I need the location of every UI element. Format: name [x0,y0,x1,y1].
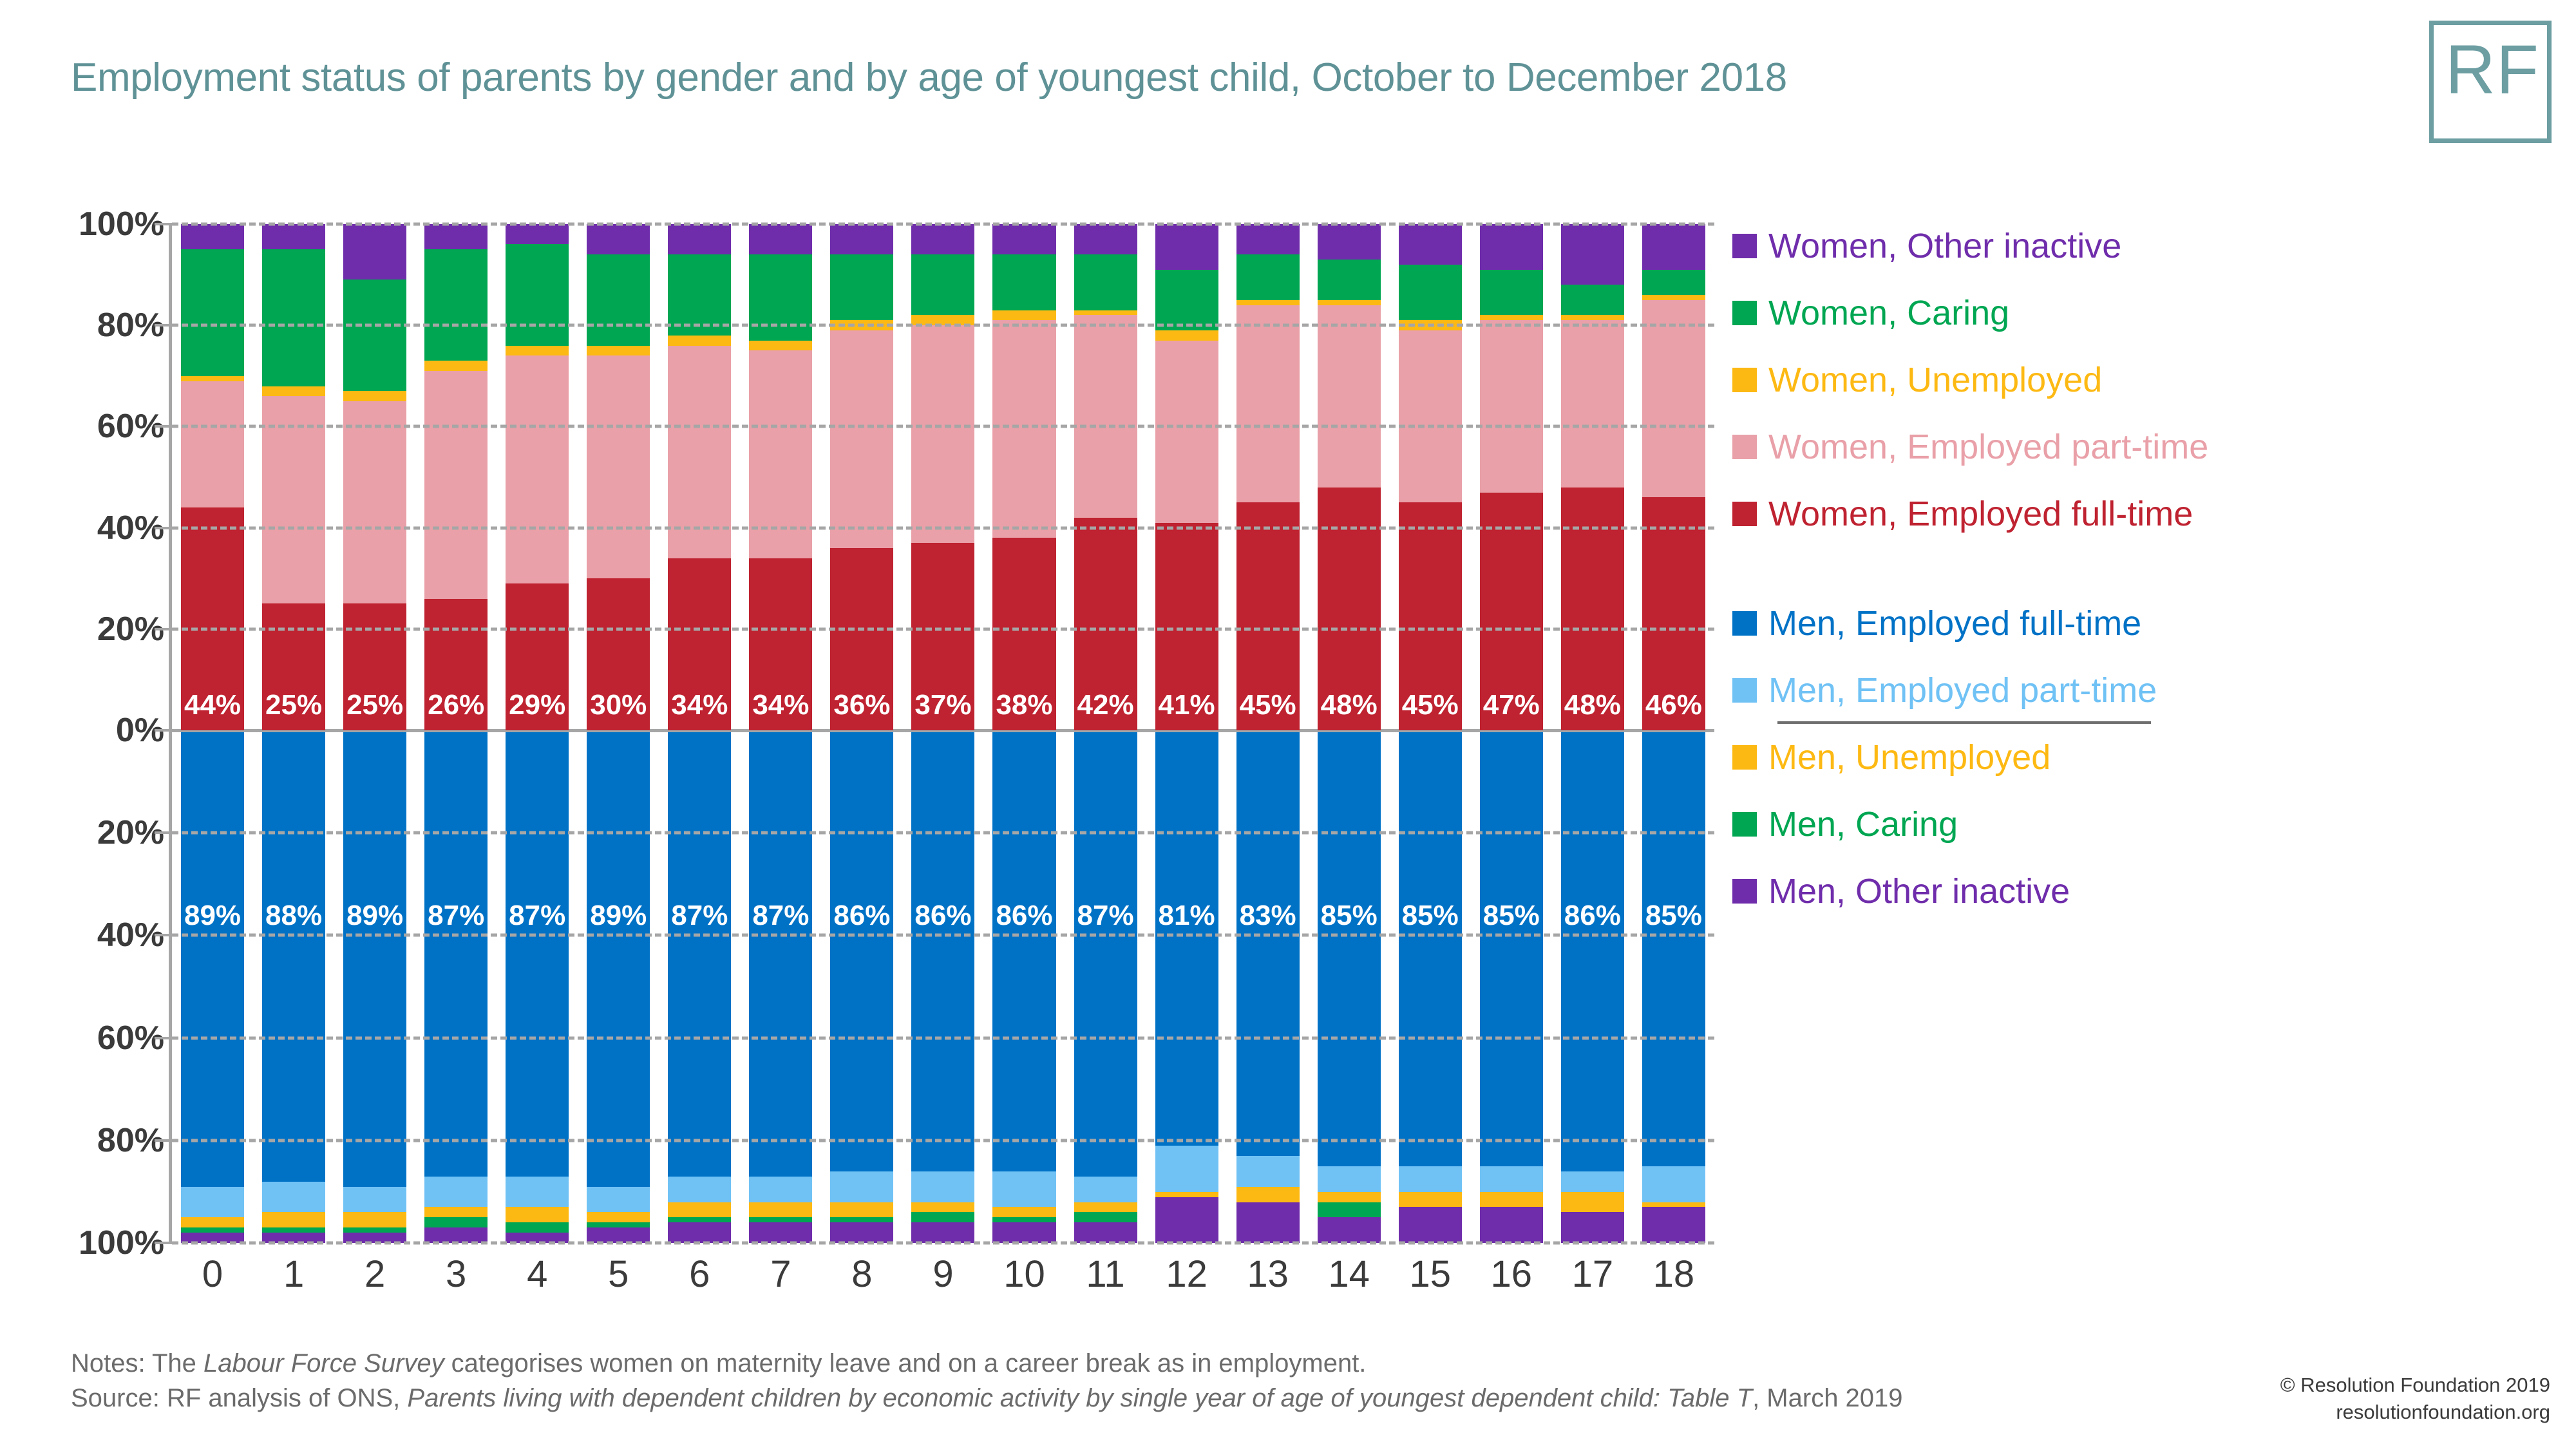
bar-segment[interactable] [992,1222,1056,1243]
bar-segment[interactable] [1155,330,1218,341]
bar-segment[interactable] [1236,300,1300,305]
y-axis-labels: 100%80%60%40%20%0%20%40%60%80%100% [0,0,164,1449]
bar-segment[interactable] [262,224,325,249]
bar-segment[interactable] [1074,1202,1137,1213]
bar-segment[interactable]: 87% [749,732,812,1177]
bar-column[interactable]: 41% [1146,224,1227,730]
bar-segment[interactable]: 85% [1642,732,1705,1166]
bar-column[interactable]: 87% [659,732,740,1243]
x-axis-tick-label: 15 [1390,1253,1471,1304]
bar-segment[interactable] [830,1217,893,1222]
bar-segment[interactable] [424,224,488,249]
y-axis-tick-mark [155,1139,173,1142]
bar-segment[interactable] [1480,224,1543,270]
bar-segment[interactable] [749,1202,812,1218]
y-axis-tick-mark [155,934,173,936]
bar-segment[interactable] [1236,305,1300,503]
bar-column[interactable]: 34% [740,224,821,730]
bar-segment[interactable] [1318,1217,1381,1243]
bar-stack: 87% [1074,732,1137,1243]
legend-swatch-icon [1732,502,1757,526]
bar-segment[interactable]: 81% [1155,732,1218,1146]
bar-segment[interactable] [992,254,1056,310]
bar-segment[interactable] [1318,1166,1381,1192]
bar-stack: 38% [992,224,1056,730]
bar-segment[interactable] [1642,1166,1705,1202]
bar-stack: 46% [1642,224,1705,730]
bar-segment[interactable]: 89% [587,732,650,1187]
bar-column[interactable]: 48% [1309,224,1390,730]
bar-segment[interactable] [1399,224,1462,265]
bar-segment[interactable] [668,1222,731,1243]
bar-value-label: 37% [911,689,974,721]
bar-column[interactable]: 45% [1390,224,1471,730]
bar-column[interactable]: 29% [497,224,578,730]
bar-segment[interactable] [1561,224,1624,285]
bar-segment[interactable] [343,1187,406,1213]
bar-column[interactable]: 25% [334,224,415,730]
bar-segment[interactable] [1318,1202,1381,1218]
bar-segment[interactable] [343,279,406,391]
bar-stack: 25% [262,224,325,730]
bar-segment[interactable] [1642,270,1705,295]
legend-item-women-3[interactable]: Women, Employed part-time [1732,413,2537,480]
bar-segment[interactable] [343,1227,406,1233]
bar-column[interactable]: 38% [983,224,1065,730]
bar-stack: 25% [343,224,406,730]
bar-segment[interactable] [587,254,650,345]
bar-column[interactable]: 85% [1633,732,1714,1243]
bar-segment[interactable] [1318,305,1381,488]
bar-segment[interactable] [1074,254,1137,310]
bar-segment[interactable]: 85% [1318,732,1381,1166]
legend-item-men-0[interactable]: Men, Employed full-time [1732,590,2537,657]
bar-segment[interactable] [1642,1207,1705,1243]
bar-segment[interactable] [262,1227,325,1233]
x-axis-tick-label: 17 [1552,1253,1633,1304]
bar-segment[interactable] [506,1222,569,1233]
bar-segment[interactable]: 87% [424,732,488,1177]
bar-segment[interactable] [911,254,974,315]
bar-segment[interactable] [181,1187,244,1218]
bar-column[interactable]: 34% [659,224,740,730]
bar-stack: 26% [424,224,488,730]
bar-column[interactable]: 87% [415,732,497,1243]
legend-label: Women, Other inactive [1768,226,2121,266]
bar-segment[interactable] [830,224,893,254]
y-axis-tick-mark [155,425,173,428]
legend-swatch-icon [1732,678,1757,703]
bar-segment[interactable] [1318,224,1381,260]
y-axis-tick-mark [155,223,173,225]
bar-segment[interactable] [343,391,406,401]
bar-segment[interactable] [911,325,974,543]
bar-segment[interactable] [1236,254,1300,300]
bar-segment[interactable]: 34% [668,558,731,730]
bar-segment[interactable]: 87% [1074,732,1137,1177]
bar-segment[interactable]: 38% [992,538,1056,730]
bar-column[interactable]: 85% [1471,732,1552,1243]
bar-segment[interactable] [424,361,488,371]
bar-segment[interactable] [992,320,1056,538]
bar-segment[interactable] [668,1202,731,1218]
bar-segment[interactable] [1318,260,1381,300]
y-axis-tick-label: 40% [3,916,164,954]
bar-column[interactable]: 89% [578,732,659,1243]
bar-stack: 42% [1074,224,1137,730]
bar-segment[interactable] [1155,1192,1218,1197]
bar-segment[interactable] [749,254,812,341]
bar-segment[interactable]: 48% [1318,488,1381,730]
bar-segment[interactable] [1318,300,1381,305]
legend-swatch-icon [1732,879,1757,904]
notes-italic: Labour Force Survey [204,1349,444,1378]
bar-segment[interactable] [1642,1202,1705,1207]
bar-column[interactable]: 89% [172,732,253,1243]
y-axis-tick-label: 20% [3,610,164,649]
bar-segment[interactable]: 83% [1236,732,1300,1156]
legend-item-women-1[interactable]: Women, Caring [1732,279,2537,346]
legend-swatch-icon [1732,368,1757,392]
bar-segment[interactable] [587,1187,650,1213]
bar-segment[interactable] [992,224,1056,254]
bar-column[interactable]: 37% [902,224,983,730]
bar-column[interactable]: 87% [740,732,821,1243]
bar-stack: 89% [181,732,244,1243]
bar-value-label: 42% [1074,689,1137,721]
bar-segment[interactable] [1399,330,1462,502]
bar-segment[interactable] [911,224,974,254]
bar-segment[interactable] [1561,315,1624,320]
legend-item-women-2[interactable]: Women, Unemployed [1732,346,2537,413]
bar-segment[interactable] [992,1207,1056,1217]
bar-segment[interactable]: 85% [1399,732,1462,1166]
bar-segment[interactable] [181,376,244,381]
bar-column[interactable]: 46% [1633,224,1714,730]
bar-segment[interactable] [1074,1177,1137,1202]
bar-segment[interactable] [911,1171,974,1202]
x-axis-tick-label: 13 [1227,1253,1309,1304]
x-axis-tick-label: 3 [415,1253,497,1304]
bar-segment[interactable] [992,1217,1056,1222]
y-axis-tick-mark [155,628,173,630]
bar-segment[interactable] [1074,310,1137,316]
x-axis-tick-label: 5 [578,1253,659,1304]
bar-column[interactable]: 89% [334,732,415,1243]
bar-segment[interactable] [1642,224,1705,270]
legend-item-men-1[interactable]: Men, Employed part-time [1732,657,2537,724]
legend-item-women-0[interactable]: Women, Other inactive [1732,213,2537,279]
bar-segment[interactable] [749,1222,812,1243]
y-axis-tick-label: 60% [3,1019,164,1057]
bar-segment[interactable]: 86% [911,732,974,1171]
bar-segment[interactable] [668,1177,731,1202]
bar-segment[interactable] [992,1171,1056,1207]
bar-column[interactable]: 86% [902,732,983,1243]
gridline [172,934,1714,937]
bar-segment[interactable] [424,371,488,599]
bar-segment[interactable] [262,1212,325,1227]
bar-stack: 34% [668,224,731,730]
bar-segment[interactable] [668,224,731,254]
bar-column[interactable]: 85% [1309,732,1390,1243]
x-axis-tick-label: 4 [497,1253,578,1304]
bar-segment[interactable] [587,1222,650,1227]
bar-segment[interactable] [1561,1192,1624,1213]
bar-column[interactable]: 48% [1552,224,1633,730]
bar-segment[interactable] [1074,315,1137,517]
bar-segment[interactable] [830,1222,893,1243]
bar-segment[interactable] [830,254,893,320]
bar-segment[interactable] [1399,1192,1462,1207]
bar-segment[interactable] [181,249,244,376]
bar-column[interactable]: 47% [1471,224,1552,730]
bar-segment[interactable] [506,1207,569,1222]
bar-segment[interactable]: 48% [1561,488,1624,730]
bar-segment[interactable] [668,1217,731,1222]
bar-segment[interactable]: 45% [1399,502,1462,730]
bar-segment[interactable] [1074,1222,1137,1243]
y-axis-tick-label: 40% [3,509,164,547]
legend-label: Men, Unemployed [1768,737,2050,777]
bar-segment[interactable] [1236,1187,1300,1202]
bar-value-label: 86% [830,900,893,932]
bar-segment[interactable] [181,224,244,249]
bar-value-label: 45% [1399,689,1462,721]
legend-label: Men, Caring [1768,804,1958,844]
bar-column[interactable]: 88% [253,732,334,1243]
bar-column[interactable]: 85% [1390,732,1471,1243]
bar-segment[interactable] [1236,224,1300,254]
bar-segment[interactable] [1399,1166,1462,1192]
bar-column[interactable]: 87% [1065,732,1146,1243]
bar-stack: 85% [1399,732,1462,1243]
y-axis-tick-label: 80% [3,1121,164,1160]
bar-segment[interactable] [587,1212,650,1222]
bar-segment[interactable] [1399,1207,1462,1243]
bar-segment[interactable] [1480,320,1543,492]
bar-stack: 45% [1236,224,1300,730]
bar-segment[interactable] [262,1182,325,1213]
bar-value-label: 83% [1236,900,1300,932]
bar-value-label: 46% [1642,689,1705,721]
bar-segment[interactable]: 37% [911,543,974,730]
bar-segment[interactable] [830,330,893,548]
bar-value-label: 85% [1480,900,1543,932]
bar-column[interactable]: 87% [497,732,578,1243]
bar-stack: 37% [911,224,974,730]
bar-segment[interactable]: 42% [1074,518,1137,730]
bar-value-label: 85% [1642,900,1705,932]
bar-value-label: 87% [1074,900,1137,932]
bar-segment[interactable] [1074,1212,1137,1222]
bar-segment[interactable] [506,1177,569,1207]
gridline [172,831,1714,835]
bar-stack: 88% [262,732,325,1243]
x-axis-tick-label: 7 [740,1253,821,1304]
bar-segment[interactable]: 36% [830,548,893,730]
bar-value-label: 88% [262,900,325,932]
bar-segment[interactable] [668,336,731,346]
bar-segment[interactable] [1155,1197,1218,1243]
bar-segment[interactable] [1318,1192,1381,1202]
copyright-line-2[interactable]: resolutionfoundation.org [2280,1399,2550,1426]
legend-swatch-icon [1732,435,1757,459]
legend-spacer [1732,547,2537,590]
bar-segment[interactable] [506,224,569,244]
bar-segment[interactable] [1480,1207,1543,1243]
legend-item-women-4[interactable]: Women, Employed full-time [1732,480,2537,547]
bar-segment[interactable] [424,1177,488,1207]
bar-segment[interactable] [1236,1202,1300,1243]
bar-segment[interactable] [424,249,488,361]
bar-segment[interactable] [911,1202,974,1213]
bar-stack: 83% [1236,732,1300,1243]
bar-segment[interactable] [749,1177,812,1202]
bar-segment[interactable] [181,1217,244,1227]
bar-column[interactable]: 81% [1146,732,1227,1243]
bar-segment[interactable] [1480,270,1543,316]
bar-column[interactable]: 30% [578,224,659,730]
bar-segment[interactable]: 30% [587,578,650,730]
bar-column[interactable]: 26% [415,224,497,730]
bar-segment[interactable]: 87% [506,732,569,1177]
bar-segment[interactable]: 25% [262,603,325,730]
bar-segment[interactable] [1155,224,1218,270]
bar-segment[interactable]: 29% [506,583,569,730]
bar-segment[interactable]: 86% [992,732,1056,1171]
bar-segment[interactable] [262,249,325,386]
legend-label: Women, Caring [1768,293,2009,333]
bar-segment[interactable] [1480,1166,1543,1192]
bar-segment[interactable] [911,1212,974,1222]
bar-stack: 87% [668,732,731,1243]
x-axis-tick-label: 6 [659,1253,740,1304]
bar-segment[interactable] [1155,270,1218,330]
bar-segment[interactable] [343,1212,406,1227]
bar-value-label: 34% [668,689,731,721]
bar-segment[interactable] [911,1222,974,1243]
bar-segment[interactable] [587,346,650,356]
gridline [172,1036,1714,1039]
bar-segment[interactable]: 86% [1561,732,1624,1171]
bar-value-label: 30% [587,689,650,721]
bar-segment[interactable]: 89% [181,732,244,1187]
bar-segment[interactable]: 41% [1155,523,1218,730]
legend-swatch-icon [1732,234,1757,258]
bar-segment[interactable] [1236,1156,1300,1187]
bar-value-label: 36% [830,689,893,721]
bar-column[interactable]: 86% [821,732,902,1243]
bar-segment[interactable] [830,1202,893,1218]
legend-item-men-4[interactable]: Men, Other inactive [1732,858,2537,925]
x-axis-labels: 0123456789101112131415161718 [172,1253,1714,1304]
bar-segment[interactable] [506,346,569,356]
bar-column[interactable]: 45% [1227,224,1309,730]
bar-segment[interactable] [587,355,650,578]
bar-segment[interactable] [1480,315,1543,320]
bar-column[interactable]: 83% [1227,732,1309,1243]
bar-column[interactable]: 86% [983,732,1065,1243]
bar-segment[interactable]: 46% [1642,497,1705,730]
bar-segment[interactable]: 85% [1480,732,1543,1166]
bar-segment[interactable] [506,244,569,345]
bar-segment[interactable] [587,224,650,254]
bar-segment[interactable]: 34% [749,558,812,730]
bar-segment[interactable] [587,1227,650,1243]
bar-segment[interactable]: 88% [262,732,325,1182]
bar-segment[interactable] [181,381,244,508]
y-axis-tick-label: 80% [3,306,164,345]
bar-segment[interactable] [1155,1146,1218,1191]
bar-column[interactable]: 25% [253,224,334,730]
bar-segment[interactable] [506,355,569,583]
bar-segment[interactable] [1480,1192,1543,1207]
y-axis-tick-label: 20% [3,813,164,852]
bar-column[interactable]: 36% [821,224,902,730]
bar-segment[interactable] [424,1227,488,1243]
bar-segment[interactable] [424,1217,488,1227]
chart-notes: Notes: The Labour Force Survey categoris… [71,1346,1903,1416]
bar-segment[interactable] [1642,300,1705,498]
bar-column[interactable]: 42% [1065,224,1146,730]
bar-segment[interactable] [181,1227,244,1233]
y-axis-tick-mark [155,527,173,529]
bar-stack: 41% [1155,224,1218,730]
bar-segment[interactable] [424,1207,488,1217]
bar-segment[interactable]: 89% [343,732,406,1187]
bar-segment[interactable] [343,401,406,603]
bar-segment[interactable] [749,1217,812,1222]
y-axis-tick-mark [155,831,173,834]
bar-segment[interactable]: 25% [343,603,406,730]
bar-segment[interactable] [1074,224,1137,254]
bar-segment[interactable] [343,224,406,279]
bar-stack: 89% [343,732,406,1243]
bar-stack: 81% [1155,732,1218,1243]
bar-segment[interactable] [1561,320,1624,487]
gridline [172,223,1714,226]
bar-segment[interactable] [1155,341,1218,523]
y-axis-tick-label: 0% [3,711,164,750]
legend-item-men-3[interactable]: Men, Caring [1732,791,2537,858]
bar-segment[interactable]: 45% [1236,502,1300,730]
bar-segment[interactable] [749,224,812,254]
bar-segment[interactable]: 44% [181,507,244,730]
bar-stack: 45% [1399,224,1462,730]
bar-column[interactable]: 86% [1552,732,1633,1243]
bar-segment[interactable] [1399,265,1462,320]
bar-value-label: 86% [1561,900,1624,932]
bar-segment[interactable] [992,310,1056,321]
bar-segment[interactable] [830,1171,893,1202]
bar-segment[interactable]: 87% [668,732,731,1177]
bar-stack: 86% [992,732,1056,1243]
bar-stack: 34% [749,224,812,730]
bar-segment[interactable] [1561,285,1624,315]
bar-column[interactable]: 44% [172,224,253,730]
gridline [172,526,1714,529]
bar-segment[interactable] [1642,295,1705,300]
gridline [172,1139,1714,1142]
bar-segment[interactable] [1561,1212,1624,1243]
bar-segment[interactable] [262,386,325,397]
legend-item-men-2[interactable]: Men, Unemployed [1732,724,2537,791]
bar-segment[interactable]: 26% [424,599,488,730]
bar-segment[interactable] [749,341,812,351]
bar-segment[interactable]: 86% [830,732,893,1171]
bar-segment[interactable] [1561,1171,1624,1192]
